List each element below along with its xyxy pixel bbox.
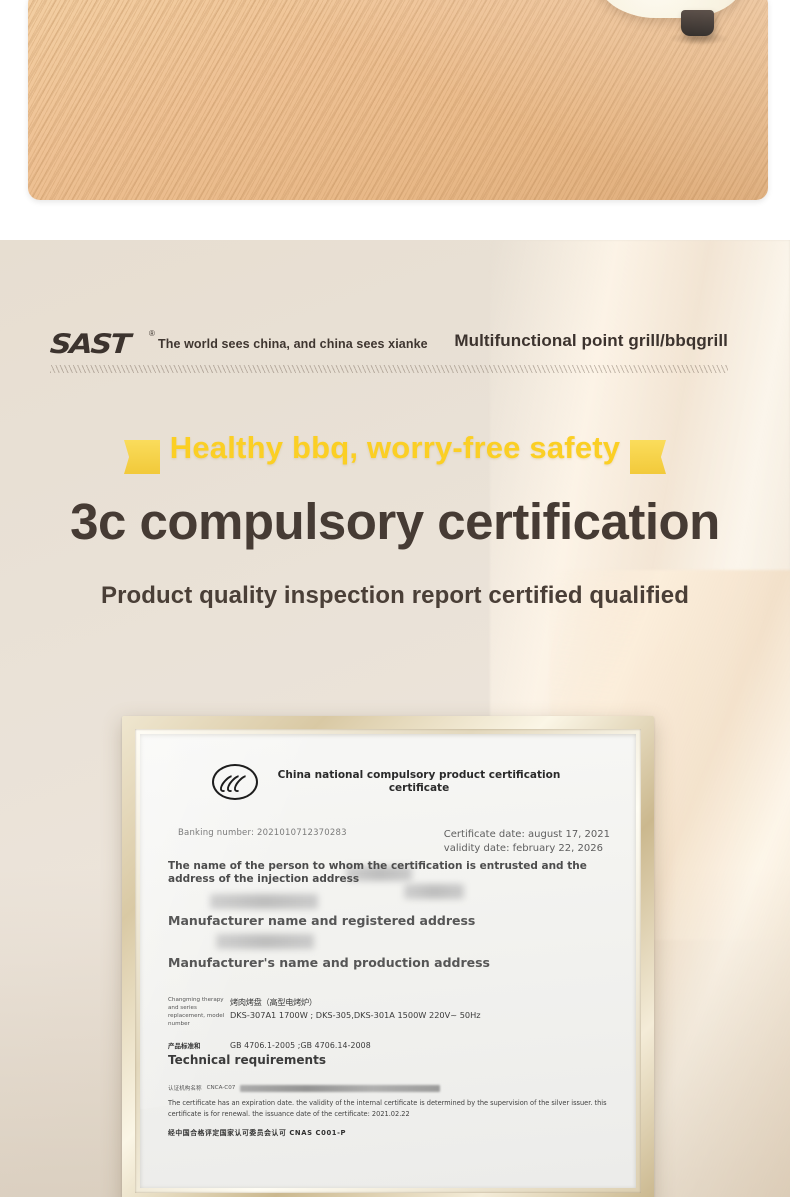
- certificate-date: Certificate date: august 17, 2021: [444, 828, 610, 842]
- accreditation-code: CNAS C001-P: [289, 1129, 346, 1137]
- banking-number: Banking number: 2021010712370283: [178, 828, 347, 855]
- banner-title: 3c compulsory certification: [0, 492, 790, 551]
- standards-row: 产品标准和 GB 4706.1-2005 ;GB 4706.14-2008 Te…: [168, 1040, 616, 1067]
- banner-subtitle: Product quality inspection report certif…: [0, 582, 790, 610]
- model-name-cn: 烤肉烤盘（高型电烤炉）: [230, 996, 481, 1009]
- frame-bevel: China national compulsory product certif…: [135, 729, 641, 1193]
- brand-tagline: The world sees china, and china sees xia…: [158, 337, 428, 351]
- certificate-document: China national compulsory product certif…: [140, 734, 636, 1188]
- certificate-header-title: China national compulsory product certif…: [258, 769, 636, 795]
- accreditation-line: 经中国合格评定国家认可委员会认可 CNAS C001-P: [168, 1127, 614, 1137]
- grill-foot: [681, 10, 714, 36]
- highlight-text: Healthy bbq, worry-free safety: [170, 430, 620, 466]
- fine-print-cn-row: 认证机构名称 CNCA-C07: [168, 1084, 614, 1092]
- ribbon-left-icon: [124, 440, 160, 474]
- brand-row: SAST ® The world sees china, and china s…: [50, 325, 740, 377]
- highlight-line-wrapper: Healthy bbq, worry-free safety: [0, 430, 790, 466]
- product-category-label: Multifunctional point grill/bbqgrill: [454, 331, 728, 351]
- grill-body: [596, 0, 746, 18]
- model-label: Changming therapy and series replacement…: [168, 996, 230, 1028]
- ccc-mark-icon: [212, 764, 258, 800]
- fine-print-section: 认证机构名称 CNCA-C07 The certificate has an e…: [168, 1084, 614, 1137]
- hatched-divider: [50, 365, 728, 373]
- certification-banner: SAST ® The world sees china, and china s…: [0, 240, 790, 1197]
- certificate-dates: Certificate date: august 17, 2021 validi…: [444, 828, 610, 855]
- accreditation-cn: 经中国合格评定国家认可委员会认可: [168, 1129, 286, 1137]
- entrusted-party-line: The name of the person to whom the certi…: [168, 860, 616, 887]
- model-row: Changming therapy and series replacement…: [168, 996, 616, 1028]
- model-values: 烤肉烤盘（高型电烤炉） DKS-307A1 1700W ; DKS-305,DK…: [230, 996, 481, 1021]
- model-number-value: DKS-307A1 1700W ; DKS-305,DKS-301A 1500W…: [230, 1009, 481, 1022]
- redacted-block: [240, 1085, 440, 1092]
- technical-requirements-label: Technical requirements: [168, 1053, 616, 1067]
- registered-mark-icon: ®: [149, 329, 155, 338]
- certificate-header: China national compulsory product certif…: [140, 764, 636, 800]
- certificate-number-row: Banking number: 2021010712370283 Certifi…: [140, 828, 636, 855]
- product-photo-section: [0, 0, 790, 240]
- ribbon-right-icon: [630, 440, 666, 474]
- sast-logo: SAST: [49, 329, 130, 360]
- fine-print-cn-code: CNCA-C07: [207, 1085, 236, 1091]
- standard-label-cn: 产品标准和: [168, 1040, 230, 1050]
- certificate-frame: China national compulsory product certif…: [122, 716, 654, 1197]
- redacted-block: [210, 894, 318, 909]
- grill-foot-shadow: [668, 32, 730, 45]
- manufacturer-production-line: Manufacturer's name and production addre…: [168, 955, 616, 970]
- redacted-block: [216, 934, 314, 949]
- fine-print-english: The certificate has an expiration date. …: [168, 1098, 614, 1119]
- fine-print-cn-prefix: 认证机构名称: [168, 1084, 202, 1092]
- manufacturer-registered-line: Manufacturer name and registered address: [168, 913, 616, 928]
- standard-codes: GB 4706.1-2005 ;GB 4706.14-2008: [230, 1041, 371, 1050]
- certificate-body: The name of the person to whom the certi…: [168, 860, 616, 970]
- validity-date: validity date: february 22, 2026: [444, 842, 610, 856]
- product-photo-card: [28, 0, 768, 200]
